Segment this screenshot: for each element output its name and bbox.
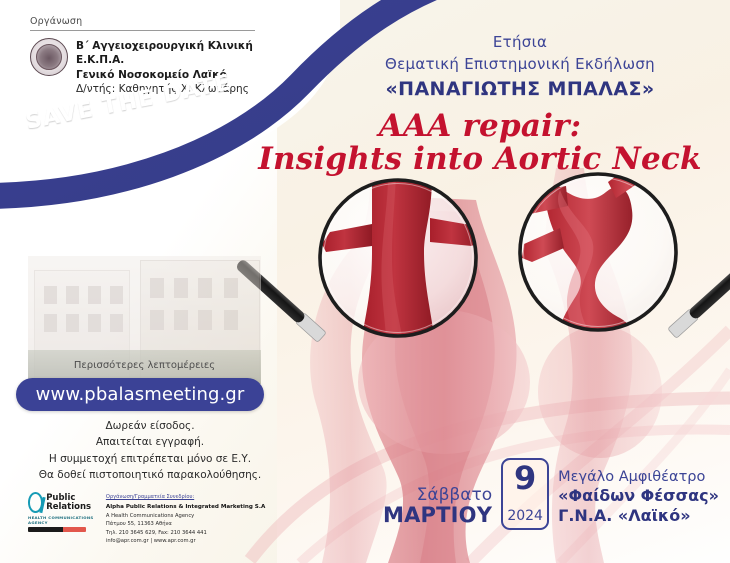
info-line-2: Απαιτείται εγγραφή. xyxy=(10,434,290,450)
secretariat-heading: Οργάνωση/Γραμματεία Συνεδρίου: xyxy=(106,493,265,501)
secretariat-descriptor: A Health Communications Agency xyxy=(106,512,265,520)
page-title-line-1: AAA repair: xyxy=(245,110,715,143)
date-left: Σάββατο ΜΑΡΤΙΟΥ xyxy=(383,487,492,530)
magnifier-right-angulated-neck xyxy=(520,160,730,348)
website-url-text: www.pbalasmeeting.gr xyxy=(36,384,245,405)
secretariat-address: Πάτμου 55, 11363 Αθήνα xyxy=(106,520,265,528)
event-header: Ετήσια Θεματική Επιστημονική Εκδήλωση «Π… xyxy=(330,32,710,100)
page-title: AAA repair: Insights into Aortic Neck xyxy=(245,110,715,177)
poster-canvas: Οργάνωση Β΄ Αγγειοχειρουργική Κλινική Ε.… xyxy=(0,0,730,563)
attendance-info: Δωρεάν είσοδος. Απαιτείται εγγραφή. Η συ… xyxy=(10,418,290,483)
date-weekday: Σάββατο xyxy=(383,487,492,504)
info-line-4: Θα δοθεί πιστοποιητικό παρακολούθησης. xyxy=(10,467,290,483)
apr-circle-a-icon xyxy=(28,492,43,513)
apr-logo-tagline: HEALTH COMMUNICATIONS AGENCY xyxy=(28,515,97,525)
info-line-3: Η συμμετοχή επιτρέπεται μόνο σε Ε.Υ. xyxy=(10,451,290,467)
apr-logo: Public Relations HEALTH COMMUNICATIONS A… xyxy=(28,492,97,545)
venue-line-3: Γ.Ν.Α. «Λαϊκό» xyxy=(558,506,719,526)
event-header-line-3: «ΠΑΝΑΓΙΩΤΗΣ ΜΠΑΛΑΣ» xyxy=(330,78,710,100)
event-header-line-2: Θεματική Επιστημονική Εκδήλωση xyxy=(330,54,710,76)
magnifier-left-straight-neck xyxy=(234,176,478,342)
secretariat-email-web: info@apr.com.gr | www.apr.com.gr xyxy=(106,537,265,545)
photo-caption: Περισσότερες λεπτομέρειες xyxy=(28,360,261,371)
secretariat-company: Alpha Public Relations & Integrated Mark… xyxy=(106,503,265,512)
date-year: 2024 xyxy=(507,509,543,523)
apr-logo-bar xyxy=(28,527,86,532)
date-month: ΜΑΡΤΙΟΥ xyxy=(383,504,492,526)
info-line-1: Δωρεάν είσοδος. xyxy=(10,418,290,434)
venue-block: Μεγάλο Αμφιθέατρο «Φαίδων Φέσσας» Γ.Ν.Α.… xyxy=(558,468,719,530)
date-day-box: 9 2024 xyxy=(501,458,549,530)
apr-logo-name: Public Relations xyxy=(46,494,97,511)
website-url-button[interactable]: www.pbalasmeeting.gr xyxy=(16,378,264,411)
venue-line-2: «Φαίδων Φέσσας» xyxy=(558,486,719,506)
organizer-line-1: Β΄ Αγγειοχειρουργική Κλινική Ε.Κ.Π.Α. xyxy=(76,39,280,68)
secretariat-block: Public Relations HEALTH COMMUNICATIONS A… xyxy=(28,492,298,545)
event-header-line-1: Ετήσια xyxy=(330,32,710,54)
date-and-venue-block: Σάββατο ΜΑΡΤΙΟΥ 9 2024 Μεγάλο Αμφιθέατρο… xyxy=(383,458,719,530)
ekpa-university-seal-icon xyxy=(30,38,68,76)
venue-line-1: Μεγάλο Αμφιθέατρο xyxy=(558,468,719,486)
organizer-divider xyxy=(30,30,255,31)
secretariat-contact: Τηλ. 210 3645 629, Fax: 210 3644 441 xyxy=(106,529,265,537)
date-day-number: 9 xyxy=(514,462,536,494)
organizer-label: Οργάνωση xyxy=(30,16,280,27)
secretariat-text: Οργάνωση/Γραμματεία Συνεδρίου: Alpha Pub… xyxy=(106,492,265,545)
page-title-line-2: Insights into Aortic Neck xyxy=(245,143,715,176)
